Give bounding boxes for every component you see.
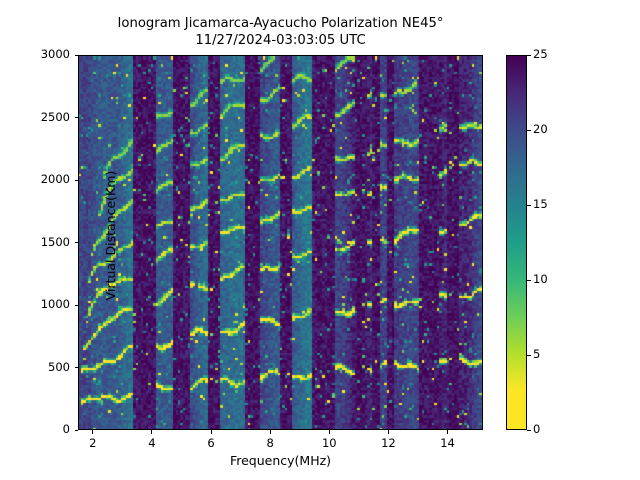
x-tick-mark [388, 430, 389, 434]
y-tick-label: 2000 [8, 172, 70, 186]
ionogram-figure: Ionogram Jicamarca-Ayacucho Polarization… [0, 0, 640, 480]
colorbar[interactable] [506, 55, 527, 430]
title-line-1: Ionogram Jicamarca-Ayacucho Polarization… [118, 16, 444, 48]
y-tick-mark [75, 242, 79, 243]
colorbar-tick-mark [527, 130, 531, 131]
x-tick-label: 6 [191, 436, 231, 450]
colorbar-tick-label: 10 [533, 272, 548, 286]
x-tick-label: 8 [250, 436, 290, 450]
x-tick-mark [447, 430, 448, 434]
ionogram-heatmap-canvas [79, 56, 482, 429]
x-tick-label: 2 [73, 436, 113, 450]
y-tick-label: 2500 [8, 110, 70, 124]
colorbar-tick-mark [527, 55, 531, 56]
x-tick-label: 4 [132, 436, 172, 450]
colorbar-tick-mark [527, 355, 531, 356]
y-tick-mark [75, 305, 79, 306]
colorbar-tick-mark [527, 280, 531, 281]
page-title: Ionogram Jicamarca-Ayacucho Polarization… [78, 16, 483, 49]
x-tick-mark [92, 430, 93, 434]
colorbar-tick-mark [527, 205, 531, 206]
y-tick-mark [75, 55, 79, 56]
x-tick-label: 12 [368, 436, 408, 450]
x-tick-mark [270, 430, 271, 434]
y-tick-label: 1500 [8, 235, 70, 249]
y-tick-label: 3000 [8, 47, 70, 61]
x-tick-mark [211, 430, 212, 434]
x-axis-label: Frequency(MHz) [78, 453, 483, 468]
y-tick-mark [75, 367, 79, 368]
colorbar-tick-label: 20 [533, 122, 548, 136]
ionogram-plot-area[interactable] [78, 55, 483, 430]
y-tick-label: 1000 [8, 297, 70, 311]
colorbar-gradient [507, 56, 526, 429]
x-tick-label: 14 [428, 436, 468, 450]
y-tick-mark [75, 117, 79, 118]
y-tick-mark [75, 180, 79, 181]
y-tick-label: 500 [8, 360, 70, 374]
colorbar-tick-label: 5 [533, 347, 540, 361]
colorbar-tick-mark [527, 430, 531, 431]
colorbar-tick-label: 15 [533, 197, 548, 211]
y-tick-mark [75, 430, 79, 431]
y-tick-label: 0 [8, 422, 70, 436]
x-tick-label: 10 [309, 436, 349, 450]
colorbar-tick-label: 0 [533, 422, 540, 436]
x-tick-mark [329, 430, 330, 434]
y-axis-label: Virtual Distance(Km) [103, 48, 118, 423]
colorbar-tick-label: 25 [533, 47, 548, 61]
x-tick-mark [151, 430, 152, 434]
